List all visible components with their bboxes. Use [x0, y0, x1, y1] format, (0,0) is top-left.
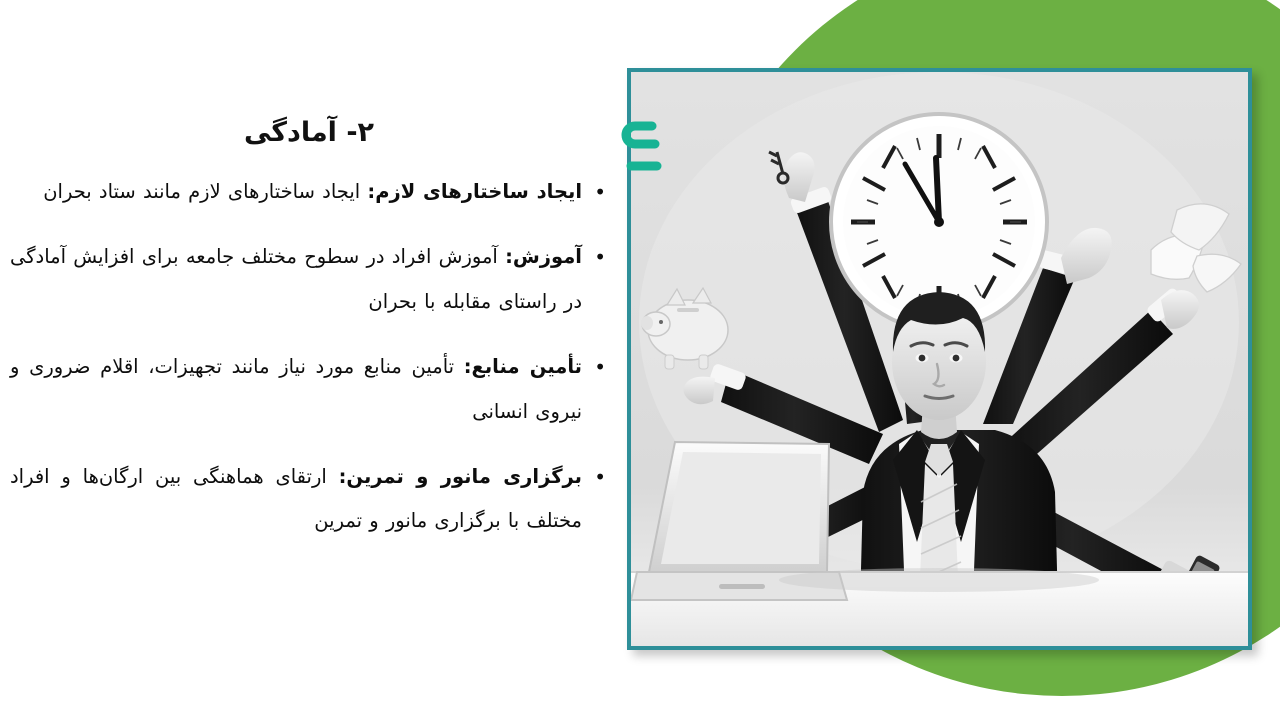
photo-illustration	[631, 72, 1248, 646]
list-item: آموزش: آموزش افراد در سطوح مختلف جامعه ب…	[10, 235, 608, 324]
bullet-lead: ایجاد ساختارهای لازم:	[367, 180, 582, 203]
list-item: تأمین منابع: تأمین منابع مورد نیاز مانند…	[10, 345, 608, 434]
bullet-lead: تأمین منابع:	[464, 355, 582, 378]
photo-frame	[627, 68, 1252, 650]
bullet-body: ایجاد ساختارهای لازم مانند ستاد بحران	[43, 180, 367, 203]
page-title: ۲- آمادگی	[10, 116, 608, 150]
slide: ۲- آمادگی ایجاد ساختارهای لازم: ایجاد سا…	[0, 0, 1280, 720]
list-item: ایجاد ساختارهای لازم: ایجاد ساختارهای لا…	[10, 170, 608, 214]
bullet-lead: برگزاری مانور و تمرین:	[339, 465, 582, 488]
bullet-list: ایجاد ساختارهای لازم: ایجاد ساختارهای لا…	[10, 170, 608, 544]
multitasking-businessman-photo	[631, 72, 1248, 646]
bullet-body: آموزش افراد در سطوح مختلف جامعه برای افز…	[10, 245, 582, 312]
text-column: ۲- آمادگی ایجاد ساختارهای لازم: ایجاد سا…	[0, 0, 622, 720]
list-item: برگزاری مانور و تمرین: ارتقای هماهنگی بی…	[10, 455, 608, 544]
bullet-lead: آموزش:	[505, 245, 582, 268]
